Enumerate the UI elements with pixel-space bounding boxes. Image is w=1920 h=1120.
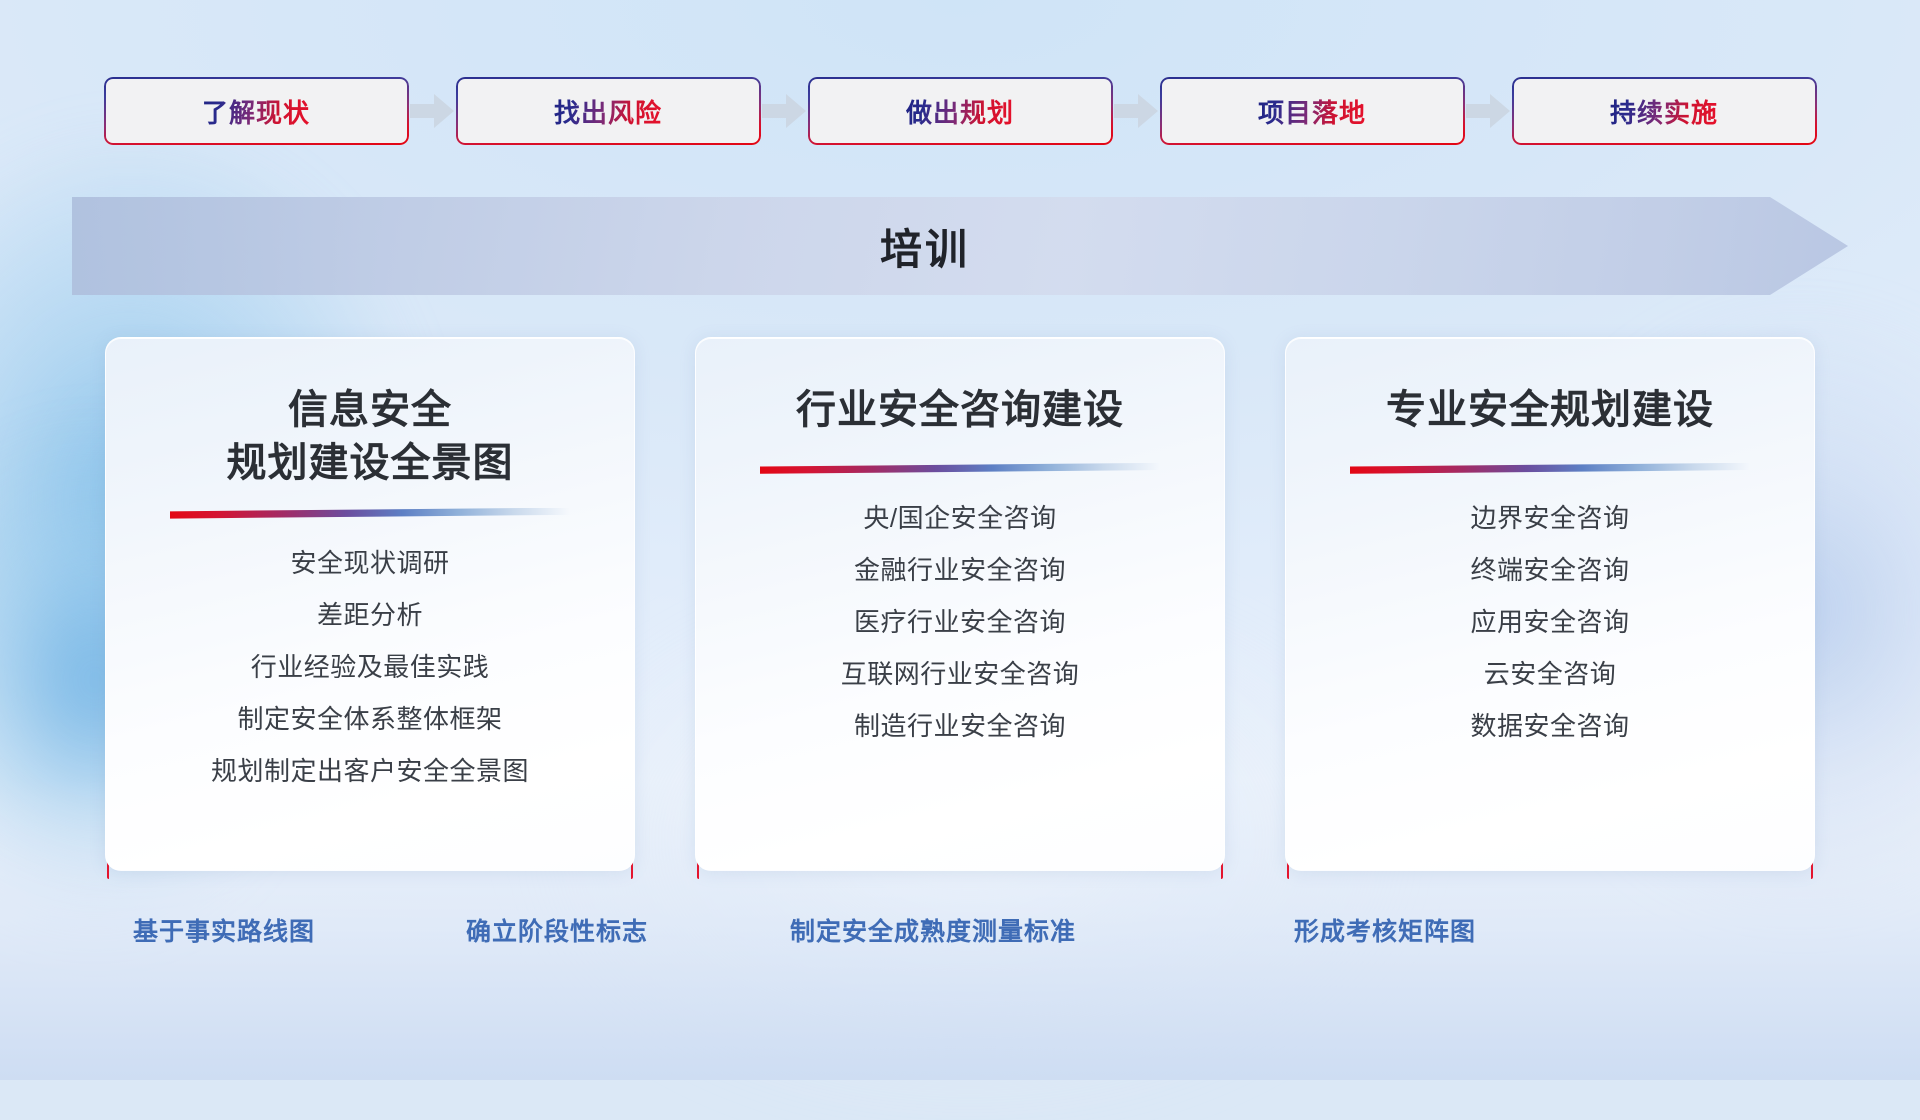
card-wrapper-1: 信息安全 规划建设全景图 安全现状调研 差距分析 行业经验及最佳实践 制定安全体… [105,337,635,871]
list-item: 规划制定出客户安全全景图 [211,745,529,797]
card-list-3: 边界安全咨询 终端安全咨询 应用安全咨询 云安全咨询 数据安全咨询 [1314,492,1786,752]
list-item: 央/国企安全咨询 [863,492,1056,544]
step-label-3: 做出规划 [906,93,1014,130]
process-step-flow: 了解现状 找出风险 做出规划 项目落地 [0,76,1920,146]
list-item: 制造行业安全咨询 [854,700,1066,752]
card-wrapper-3: 专业安全规划建设 边界安全咨询 终端安全咨询 应用安全咨询 云安全咨询 数据安全… [1285,337,1815,871]
arrow-right-icon [1465,76,1512,146]
footnote-4: 形成考核矩阵图 [1294,912,1476,948]
arrow-right-icon [761,76,808,146]
list-item: 互联网行业安全咨询 [841,648,1080,700]
step-label-4: 项目落地 [1258,93,1366,130]
list-item: 边界安全咨询 [1470,492,1629,544]
arrow-right-icon [409,76,456,146]
training-banner: 培训 [72,197,1848,295]
list-item: 终端安全咨询 [1470,544,1629,596]
list-item: 行业经验及最佳实践 [251,641,490,693]
card-3[interactable]: 专业安全规划建设 边界安全咨询 终端安全咨询 应用安全咨询 云安全咨询 数据安全… [1285,337,1815,871]
list-item: 应用安全咨询 [1470,596,1629,648]
step-box-5[interactable]: 持续实施 [1512,77,1817,145]
list-item: 医疗行业安全咨询 [854,596,1066,648]
card-wrapper-2: 行业安全咨询建设 央/国企安全咨询 金融行业安全咨询 医疗行业安全咨询 互联网行… [695,337,1225,871]
card-2[interactable]: 行业安全咨询建设 央/国企安全咨询 金融行业安全咨询 医疗行业安全咨询 互联网行… [695,337,1225,871]
card-row: 信息安全 规划建设全景图 安全现状调研 差距分析 行业经验及最佳实践 制定安全体… [0,337,1920,877]
card-title-1: 信息安全 规划建设全景图 [227,384,514,490]
footnote-2: 确立阶段性标志 [466,912,648,948]
list-item: 制定安全体系整体框架 [237,693,502,745]
footnote-1: 基于事实路线图 [133,912,315,948]
arrow-right-icon [1113,76,1160,146]
card-title-3: 专业安全规划建设 [1386,384,1714,437]
card-title-2: 行业安全咨询建设 [796,384,1124,437]
list-item: 数据安全咨询 [1470,700,1629,752]
footnote-row: 基于事实路线图 确立阶段性标志 制定安全成熟度测量标准 形成考核矩阵图 [0,912,1920,960]
card-list-2: 央/国企安全咨询 金融行业安全咨询 医疗行业安全咨询 互联网行业安全咨询 制造行… [724,492,1196,752]
banner-label: 培训 [72,197,1848,295]
card-divider-2 [760,463,1160,474]
step-label-1: 了解现状 [202,93,310,130]
card-1[interactable]: 信息安全 规划建设全景图 安全现状调研 差距分析 行业经验及最佳实践 制定安全体… [105,337,635,871]
step-label-5: 持续实施 [1610,93,1718,130]
list-item: 云安全咨询 [1484,648,1617,700]
card-list-1: 安全现状调研 差距分析 行业经验及最佳实践 制定安全体系整体框架 规划制定出客户… [134,537,606,797]
step-box-4[interactable]: 项目落地 [1160,77,1465,145]
list-item: 差距分析 [317,589,423,641]
list-item: 金融行业安全咨询 [854,544,1066,596]
step-label-2: 找出风险 [554,93,662,130]
card-divider-3 [1350,463,1750,474]
card-divider-1 [170,508,570,519]
step-box-2[interactable]: 找出风险 [456,77,761,145]
footnote-3: 制定安全成熟度测量标准 [790,912,1076,948]
step-box-3[interactable]: 做出规划 [808,77,1113,145]
step-box-1[interactable]: 了解现状 [104,77,409,145]
list-item: 安全现状调研 [290,537,449,589]
